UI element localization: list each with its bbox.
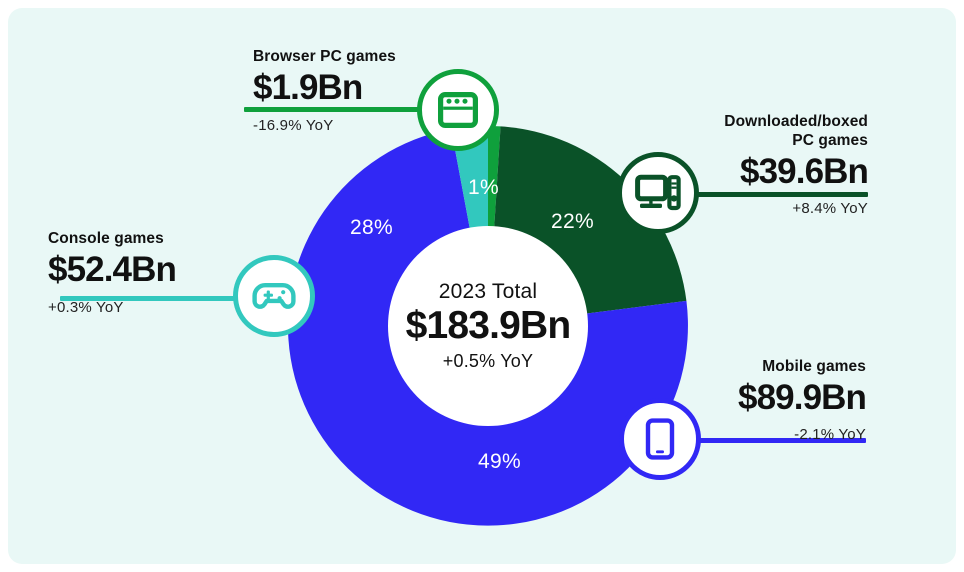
label-mobile-yoy: -2.1% YoY <box>648 426 866 444</box>
label-console-category: Console games <box>48 230 263 249</box>
slice-percent-downloaded: 22% <box>551 210 594 234</box>
label-console: Console games $52.4Bn +0.3% YoY <box>48 230 263 317</box>
infographic-card: 1% 22% 49% 28% 2023 Total $183.9Bn +0.5%… <box>8 8 956 564</box>
label-downloaded-category-line2: PC games <box>636 132 868 151</box>
label-mobile-value: $89.9Bn <box>648 378 866 417</box>
slice-percent-console: 28% <box>350 216 393 240</box>
total-value: $183.9Bn <box>406 306 571 347</box>
label-browser-value: $1.9Bn <box>253 68 483 107</box>
label-downloaded-value: $39.6Bn <box>636 152 868 191</box>
label-console-value: $52.4Bn <box>48 250 263 289</box>
label-browser: Browser PC games $1.9Bn -16.9% YoY <box>253 48 483 135</box>
label-console-yoy: +0.3% YoY <box>48 299 263 317</box>
label-mobile-category: Mobile games <box>648 358 866 377</box>
total-label: 2023 Total <box>439 280 538 304</box>
total-yoy: +0.5% YoY <box>443 351 533 372</box>
label-mobile: Mobile games $89.9Bn -2.1% YoY <box>648 358 866 444</box>
label-downloaded-category-line1: Downloaded/boxed <box>636 113 868 132</box>
slice-percent-mobile: 49% <box>478 450 521 474</box>
slice-percent-browser: 1% <box>468 176 499 200</box>
label-downloaded: Downloaded/boxed PC games $39.6Bn +8.4% … <box>636 113 868 218</box>
label-browser-yoy: -16.9% YoY <box>253 117 483 135</box>
donut-center-total: 2023 Total $183.9Bn +0.5% YoY <box>388 226 588 426</box>
label-browser-category: Browser PC games <box>253 48 483 67</box>
label-downloaded-yoy: +8.4% YoY <box>636 200 868 218</box>
